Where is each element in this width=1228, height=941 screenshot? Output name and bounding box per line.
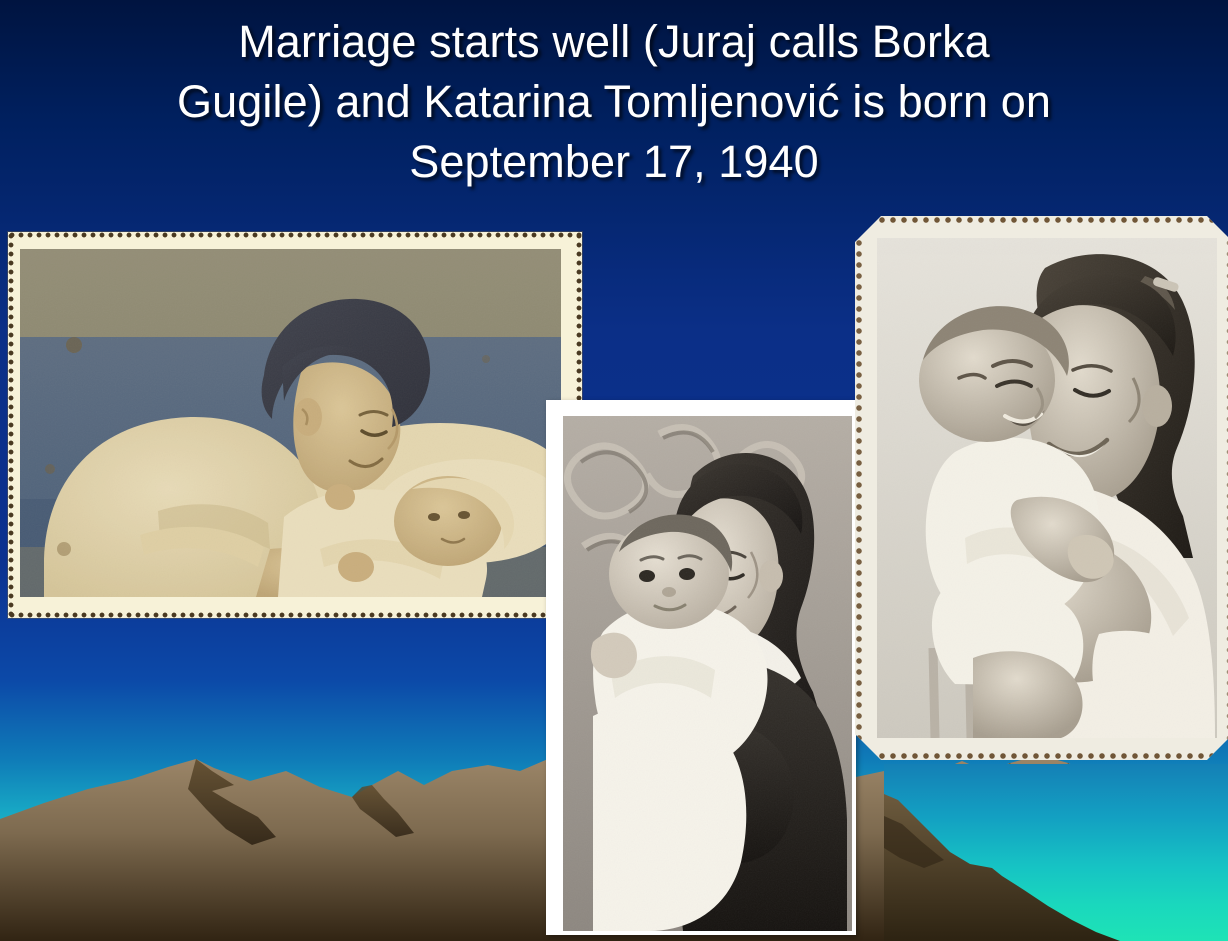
photo-left-image — [20, 249, 561, 597]
presentation-slide: Marriage starts well (Juraj calls Borka … — [0, 0, 1228, 941]
photo-left[interactable] — [8, 232, 582, 618]
photo-right[interactable] — [855, 216, 1228, 760]
photo-middle[interactable] — [546, 400, 856, 935]
teal-mountain-panel[interactable] — [884, 764, 1228, 941]
photo-right-image — [877, 238, 1217, 738]
photo-middle-image — [563, 416, 852, 931]
slide-title: Marriage starts well (Juraj calls Borka … — [60, 12, 1168, 192]
